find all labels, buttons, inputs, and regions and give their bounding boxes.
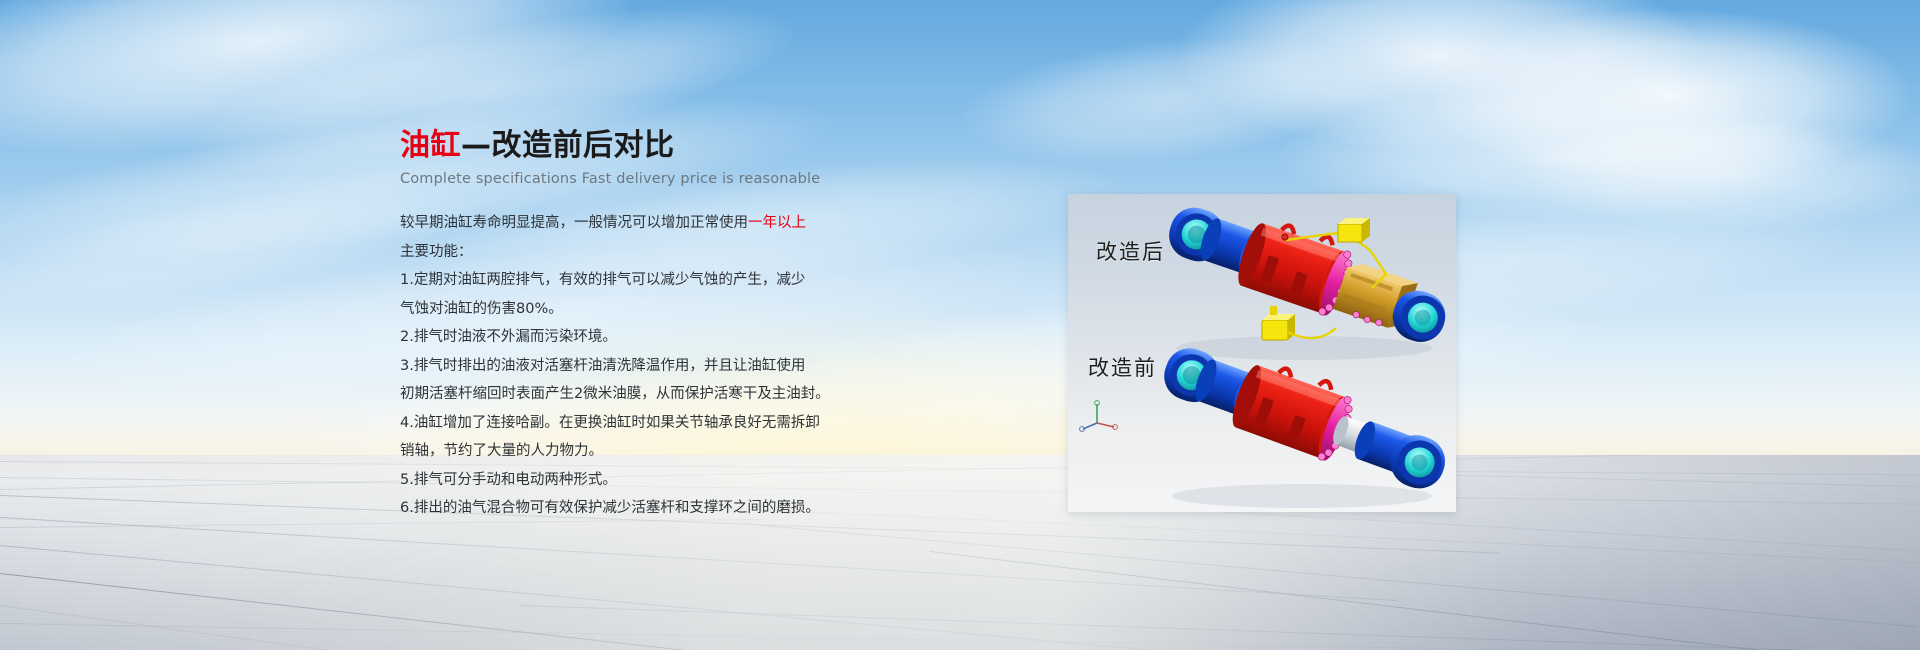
feature-line: 4.油缸增加了连接哈副。在更换油缸时如果关节轴承良好无需拆卸 xyxy=(400,409,920,438)
cylinder-before-illustration xyxy=(1152,344,1456,512)
ground-texture xyxy=(0,455,1920,650)
section-heading: 主要功能： xyxy=(400,238,920,267)
sky-background xyxy=(0,0,1920,460)
feature-line: 5.排气可分手动和电动两种形式。 xyxy=(400,466,920,495)
cloud-shape xyxy=(955,18,1385,181)
cylinder-after-illustration xyxy=(1154,202,1456,367)
feature-line: 初期活塞杆缩回时表面产生2微米油膜，从而保护活寒干及主油封。 xyxy=(400,380,920,409)
feature-line: 2.排气时油液不外漏而污染环境。 xyxy=(400,323,920,352)
feature-list: 较早期油缸寿命明显提高，一般情况可以增加正常使用一年以上 主要功能： 1.定期对… xyxy=(400,209,920,523)
label-before-modification: 改造前 xyxy=(1088,352,1157,382)
feature-line: 1.定期对油缸两腔排气，有效的排气可以减少气蚀的产生，减少 xyxy=(400,266,920,295)
feature-line: 气蚀对油缸的伤害80%。 xyxy=(400,295,920,324)
product-comparison-panel: 改造后 改造前 xyxy=(1068,194,1456,512)
feature-line: 3.排气时排出的油液对活塞杆油清洗降温作用，并且让油缸使用 xyxy=(400,352,920,381)
page-title: 油缸—改造前后对比 xyxy=(400,128,920,164)
product-banner: 油缸—改造前后对比 Complete specifications Fast d… xyxy=(0,0,1920,650)
intro-line-highlight: 一年以上 xyxy=(748,215,806,231)
axis-triad-icon xyxy=(1080,399,1120,433)
page-title-highlight: 油缸 xyxy=(400,128,461,163)
intro-line: 较早期油缸寿命明显提高，一般情况可以增加正常使用一年以上 xyxy=(400,209,920,238)
pavement-background xyxy=(0,455,1920,650)
ground-shadow xyxy=(0,455,1920,650)
feature-line: 6.排出的油气混合物可有效保护减少活塞杆和支撑环之间的磨损。 xyxy=(400,494,920,523)
banner-copy: 油缸—改造前后对比 Complete specifications Fast d… xyxy=(400,128,920,523)
feature-line: 销轴，节约了大量的人力物力。 xyxy=(400,437,920,466)
cloud-shape xyxy=(1430,10,1910,180)
cloud-shape xyxy=(1520,120,1920,230)
page-title-rest: —改造前后对比 xyxy=(461,128,675,163)
intro-line-plain: 较早期油缸寿命明显提高，一般情况可以增加正常使用 xyxy=(400,215,748,231)
page-subtitle: Complete specifications Fast delivery pr… xyxy=(400,171,920,187)
cloud-shape xyxy=(1180,0,1700,150)
